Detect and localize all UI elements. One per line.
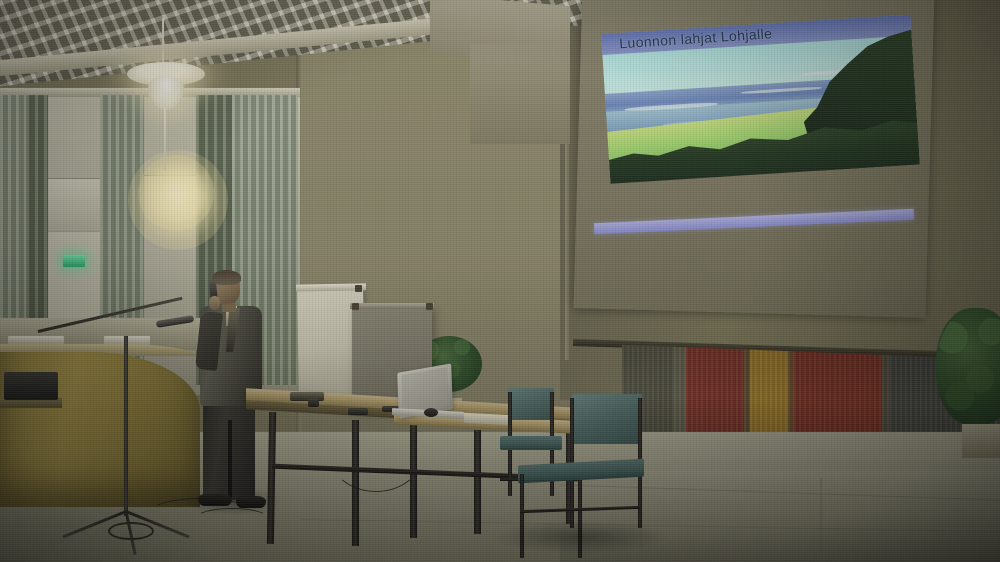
presenter-leg-split [228,420,232,500]
pendant-lamp-cord [162,18,164,64]
desk-item-small [308,398,319,407]
flipchart-clip-3 [426,303,433,310]
ceiling-soffit-edge [470,44,570,144]
flipchart-grey-bar [350,303,434,309]
flipchart-clip-2 [352,303,359,310]
presenter-hair [212,270,241,285]
audience-chair-back-2 [572,394,642,444]
desk-cable-drop [330,420,422,492]
projection-screen: Luonnon lahjat Lohjalle [574,0,935,318]
floor-grout-4 [820,478,822,562]
chair-floor-shadow [490,520,670,554]
plant-pot-right [962,424,1000,458]
audience-chair-back-1 [508,388,554,420]
lectern-equipment [4,372,58,400]
desk-cable-connector [348,408,368,415]
microphone-stand-pole [124,336,128,516]
slide-accent-bar [594,209,914,235]
presentation-photo: Luonnon lahjat Lohjalle [0,0,1000,562]
floor-cable-loop-2 [196,508,268,528]
potted-plant-right [936,308,1000,426]
table-leg-right [474,430,481,534]
laptop-mouse [424,408,438,417]
exit-sign [63,255,85,267]
audience-chair-seat-1 [500,436,562,450]
pendant-lamp-back [138,155,214,231]
laptop-lid-back [401,367,448,414]
mic-stand-base-ring [108,522,154,540]
flipchart-clip-1 [355,285,362,292]
presenter-hand [209,296,220,310]
